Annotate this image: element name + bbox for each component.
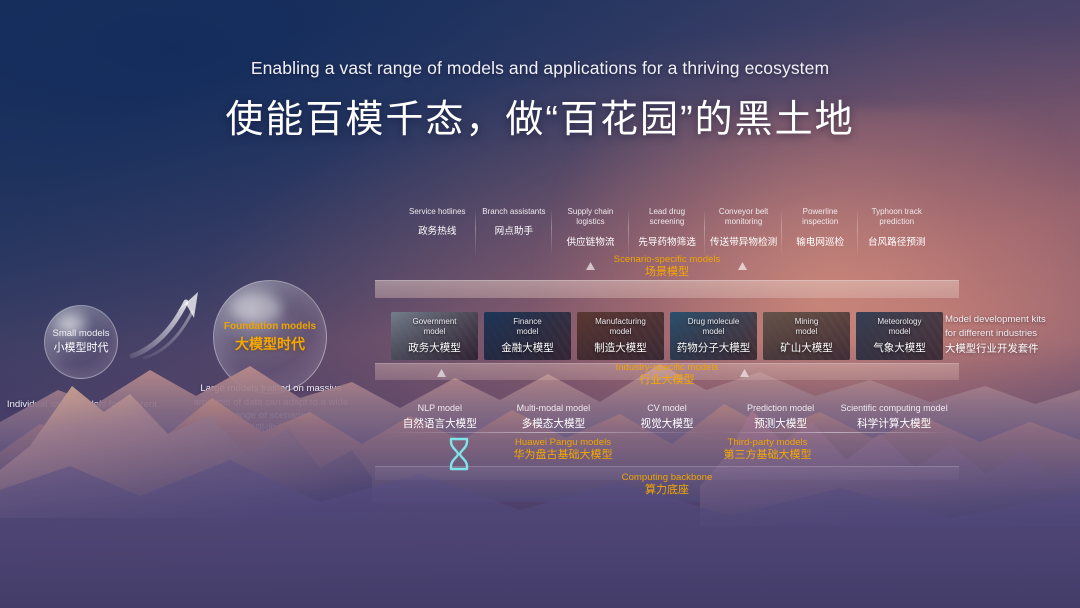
band-scenario-bar: [375, 280, 959, 298]
scenario-list: Service hotlines政务热线Branch assistants网点助…: [399, 207, 935, 259]
chevron-up-icon: [737, 258, 748, 268]
industry-model-card[interactable]: Manufacturingmodel制造大模型: [577, 312, 664, 360]
scenario-label-cn: 输电网巡检: [784, 237, 857, 249]
foundation-label-en: Scientific computing model: [837, 403, 951, 414]
foundation-model-list: NLP model自然语言大模型Multi-modal model多模态大模型C…: [383, 403, 951, 437]
thirdparty-label-en: Third-party models: [700, 437, 835, 449]
card-label-cn: 气象大模型: [873, 340, 926, 355]
band-compute-label-cn: 算力底座: [375, 484, 959, 498]
card-label-cn: 矿山大模型: [780, 340, 833, 355]
scenario-label-en: Supply chain logistics: [554, 207, 627, 228]
scenario-label-cn: 台风路径预测: [860, 237, 933, 249]
right-note-en-1: Model development kits: [945, 313, 1075, 327]
band-compute-label-en: Computing backbone: [375, 472, 959, 484]
title-chinese: 使能百模千态，做“百花园”的黑土地: [0, 88, 1080, 143]
scenario-label-en: Lead drug screening: [631, 207, 704, 228]
industry-model-card[interactable]: Meteorologymodel气象大模型: [856, 312, 943, 360]
card-label-en: Drug moleculemodel: [688, 317, 740, 336]
third-party-models-label: Third-party models 第三方基础大模型: [700, 437, 835, 463]
band-scenario-label-cn: 场景模型: [375, 266, 959, 280]
card-label-en: Manufacturingmodel: [595, 317, 646, 336]
scenario-label-cn: 网点助手: [478, 226, 551, 238]
scenario-label-cn: 先导药物筛选: [631, 237, 704, 249]
band-industry-label-en: Industry-specific models: [375, 362, 959, 374]
foundation-label-en: NLP model: [383, 403, 497, 414]
scenario-label-cn: 供应链物流: [554, 237, 627, 249]
foundation-model-item[interactable]: Scientific computing model科学计算大模型: [837, 403, 951, 437]
card-label-en: Governmentmodel: [412, 317, 456, 336]
slide-canvas: Enabling a vast range of models and appl…: [0, 0, 1080, 608]
title-english: Enabling a vast range of models and appl…: [0, 58, 1080, 79]
scenario-label-cn: 传送带异物检测: [707, 237, 780, 249]
card-label-en: Miningmodel: [795, 317, 819, 336]
huawei-pangu-models-label: Huawei Pangu models 华为盘古基础大模型: [463, 437, 663, 463]
industry-model-cards: Governmentmodel政务大模型Financemodel金融大模型Man…: [391, 312, 943, 360]
scenario-label-en: Service hotlines: [401, 207, 474, 217]
pangu-label-cn: 华为盘古基础大模型: [463, 449, 663, 463]
scenario-label-en: Powerline inspection: [784, 207, 857, 228]
card-label-cn: 制造大模型: [594, 340, 647, 355]
industry-model-card[interactable]: Miningmodel矿山大模型: [763, 312, 850, 360]
scenario-item[interactable]: Typhoon track prediction台风路径预测: [858, 207, 935, 259]
scenario-label-en: Typhoon track prediction: [860, 207, 933, 228]
pangu-hourglass-icon: [447, 437, 471, 471]
thirdparty-label-cn: 第三方基础大模型: [700, 449, 835, 463]
foundation-label-cn: 科学计算大模型: [837, 416, 951, 431]
scenario-item[interactable]: Conveyor belt monitoring传送带异物检测: [705, 207, 782, 259]
foundation-label-en: Prediction model: [724, 403, 838, 414]
foundation-label-cn: 多模态大模型: [497, 416, 611, 431]
foundation-model-item[interactable]: CV model视觉大模型: [610, 403, 724, 437]
foundation-label-cn: 预测大模型: [724, 416, 838, 431]
band-industry-specific-models: Industry-specific models 行业大模型: [375, 363, 959, 380]
scenario-item[interactable]: Powerline inspection输电网巡检: [782, 207, 859, 259]
foundation-model-item[interactable]: Prediction model预测大模型: [724, 403, 838, 437]
band-scenario-specific-models: Scenario-specific models 场景模型: [375, 280, 959, 298]
card-label-en: Financemodel: [513, 317, 541, 336]
band-industry-label: Industry-specific models 行业大模型: [375, 362, 959, 388]
scenario-item[interactable]: Branch assistants网点助手: [476, 207, 553, 259]
band-industry-label-cn: 行业大模型: [375, 374, 959, 388]
industry-model-card[interactable]: Governmentmodel政务大模型: [391, 312, 478, 360]
scenario-label-en: Branch assistants: [478, 207, 551, 217]
foundation-model-item[interactable]: NLP model自然语言大模型: [383, 403, 497, 437]
card-label-cn: 金融大模型: [501, 340, 554, 355]
scenario-item[interactable]: Lead drug screening先导药物筛选: [629, 207, 706, 259]
scenario-label-en: Conveyor belt monitoring: [707, 207, 780, 228]
foundation-label-cn: 自然语言大模型: [383, 416, 497, 431]
industry-model-card[interactable]: Financemodel金融大模型: [484, 312, 571, 360]
foundation-label-cn: 视觉大模型: [610, 416, 724, 431]
slide-title: Enabling a vast range of models and appl…: [0, 58, 1080, 143]
foundation-label-en: CV model: [610, 403, 724, 414]
chevron-up-icon: [585, 258, 596, 268]
chevron-up-icon: [436, 365, 447, 375]
computing-backbone-label: Computing backbone 算力底座: [375, 472, 959, 498]
pangu-label-en: Huawei Pangu models: [463, 437, 663, 449]
foundation-model-item[interactable]: Multi-modal model多模态大模型: [497, 403, 611, 437]
industry-model-card[interactable]: Drug moleculemodel药物分子大模型: [670, 312, 757, 360]
scenario-item[interactable]: Service hotlines政务热线: [399, 207, 476, 259]
foundation-label-en: Multi-modal model: [497, 403, 611, 414]
card-label-cn: 政务大模型: [408, 340, 461, 355]
card-label-cn: 药物分子大模型: [677, 340, 751, 355]
scenario-label-cn: 政务热线: [401, 226, 474, 238]
scenario-item[interactable]: Supply chain logistics供应链物流: [552, 207, 629, 259]
card-label-en: Meteorologymodel: [877, 317, 921, 336]
chevron-up-icon: [739, 365, 750, 375]
